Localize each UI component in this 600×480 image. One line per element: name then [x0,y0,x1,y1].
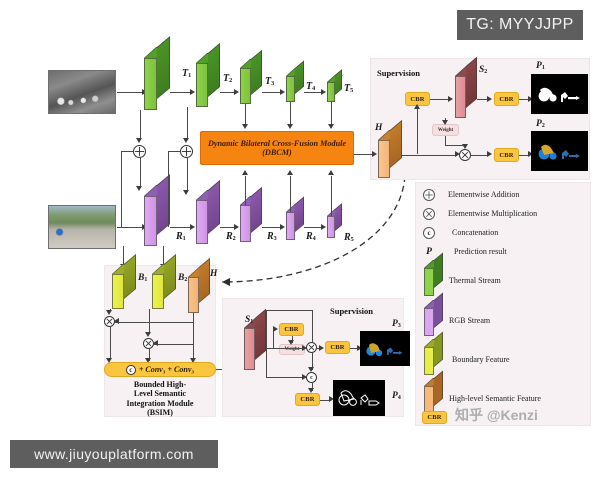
arrow-r2-r3 [234,224,239,230]
prediction-image-3 [360,331,410,366]
arrow-t4-dbcm [287,124,293,129]
arrow-t1-add1 [136,138,142,143]
prediction-image-1 [531,74,588,114]
cube-side [124,254,136,299]
times-circle-icon [144,338,153,349]
legend-label-rgb: RGB Stream [449,316,490,325]
arrow-add2-r2 [183,190,189,195]
arrow-bypass-concat [302,374,307,380]
connector-h-mul2 [154,344,193,345]
thermal-block-3 [240,68,262,104]
cube-side [208,43,220,97]
cube-side [295,196,304,232]
thermal-label-2: T2 [223,74,232,84]
cube-side [390,120,402,168]
thermal-block-2 [196,63,220,107]
arrow-cbr1-weight [288,340,294,345]
connector-r3-r4 [262,227,281,228]
legend-rgb-block-icon [424,308,443,336]
thermal-block-5 [327,82,342,102]
legend-label-semantic: High-level Semantic Feature [449,394,541,403]
supervision-bottom-multiply-node [306,342,317,353]
connector-mul1-bar [110,327,111,360]
connector-bypass-bottom [266,377,306,378]
semantic-block-bsim [188,277,210,313]
connector-r1-r2 [170,227,191,228]
supervision-top-h-block [378,140,402,178]
supervision-top-h-label: H [375,124,382,134]
supervision-top-s2-label: S2 [479,66,487,76]
times-circle-icon [105,316,114,327]
legend-row-prediction: P Prediction result [423,244,588,259]
arrow-h-mul2 [153,340,158,346]
connector-add1-r1 [140,158,141,188]
connector-h-row [402,155,457,156]
cube-front [424,268,434,296]
cube-side [164,254,176,299]
connector-r4-r5 [304,227,322,228]
arrow-s2-cbr2 [487,96,492,102]
thermal-label-5: T5 [344,84,353,94]
connector-bypass-top [266,310,312,311]
connector-add2-r2 [187,158,188,192]
prediction-label-1: P1 [536,62,545,72]
connector-t4-t5 [304,92,322,93]
connector-t2-add2 [187,107,188,139]
bsim-caption: Bounded High- Level Semantic Integration… [106,380,214,418]
arrow-t5-dbcm [328,124,334,129]
supervision-top-cbr-3[interactable]: CBR [494,148,519,162]
cube-front [327,82,335,102]
supervision-bottom-cbr-2[interactable]: CBR [325,341,350,354]
cube-side [208,180,220,234]
thermal-block-1 [144,58,170,110]
bsim-caption-line-2: Level Semantic [106,389,214,398]
arrow-r1-r2 [190,224,195,230]
c-circle-icon: c [423,227,435,239]
cube-side [434,331,443,367]
figure-canvas: T1 T2 T3 T4 T5 [0,0,600,480]
legend-cbr-icon: CBR [422,411,447,424]
arrow-h-mul1 [114,318,119,324]
legend-label-prediction: Prediction result [454,247,507,256]
connector-t2-t3 [220,92,235,93]
rgb-label-4: R4 [306,232,316,242]
thermal-label-3: T3 [265,77,274,87]
times-circle-icon [423,208,435,220]
arrow-h-multiply [455,151,460,157]
arrow-t2-add2 [183,138,189,143]
elementwise-addition-node-2 [180,145,193,158]
rgb-block-2 [196,200,220,244]
supervision-top-cbr-2[interactable]: CBR [494,92,519,106]
supervision-bottom-title: Supervision [330,306,373,316]
cube-side [255,309,266,360]
supervision-top-s2-block [455,76,477,118]
cube-front [286,212,295,240]
cube-side [251,50,262,95]
times-circle-icon [460,149,470,161]
arrow-cbr1-s2 [448,96,453,102]
arrow-t4-t5 [321,89,326,95]
connector-cbr1-s2 [430,99,449,100]
connector-r5-dbcm [331,176,332,216]
connector-h-mul1 [115,322,193,323]
cube-front [196,200,208,244]
cube-side [466,57,477,108]
cube-side [335,69,342,95]
supervision-top-title: Supervision [377,68,420,78]
prediction-label-2: P2 [536,120,545,130]
thermal-block-4 [286,76,304,102]
cube-side [434,370,443,406]
cube-side [199,258,210,303]
edge-map-icon [333,380,385,416]
arrow-mul-cbr2-b [319,345,324,351]
legend-label-addition: Elementwise Addition [448,190,519,199]
prediction-image-2 [531,131,588,171]
cube-side [157,36,170,99]
watermark-top-right: TG: MYYJJPP [457,10,583,40]
cube-front [240,205,251,242]
arrow-r5-dbcm [328,170,334,175]
arrow-t3-dbcm [242,124,248,129]
legend-label-concatenation: Concatenation [452,228,498,237]
connector-r2-r3 [220,227,235,228]
cube-front [424,308,434,336]
cube-side [434,252,443,288]
connector-hmid-down [149,322,150,324]
connector-bus-add1 [121,151,133,152]
rgb-label-5: R5 [344,233,354,243]
connector-h-up-cbr1 [417,107,418,154]
supervision-top-weight: Weight [432,124,459,136]
legend-semantic-block-icon [424,386,443,414]
arrow-t2-t3 [234,89,239,95]
cube-front [244,328,255,370]
p-bold-icon: P [423,247,435,257]
supervision-bottom-concat-node: c [306,372,317,383]
connector-dbcm-h [354,154,374,155]
color-map-icon [531,131,588,171]
legend-label-multiplication: Elementwise Multiplication [448,209,537,218]
rgb-input-image [48,205,116,249]
arrow-concat-cbr3 [308,388,314,393]
cube-side [251,187,262,233]
legend-label-thermal: Thermal Stream [449,276,501,285]
arrow-s1-cbr1 [273,326,278,332]
bsim-concat-bar[interactable]: c + Conv₃ + Conv₃ [104,362,216,377]
legend-thermal-block-icon [424,268,443,296]
cube-side [335,203,342,231]
cube-front [144,196,157,246]
connector-bypass-right [312,310,313,342]
arrow-weight-multiply [462,144,468,149]
connector-bus-vert-1 [121,151,122,227]
connector-s1-row [266,348,304,349]
supervision-bottom-s1-label: S1 [245,316,253,326]
rgb-label-2: R2 [226,232,236,242]
connector-h-down [193,313,194,361]
rgb-block-5 [327,216,342,238]
connector-s1-up [273,330,274,348]
cube-front [327,216,335,238]
thermal-label-1: T1 [182,69,191,79]
prediction-label-3: P3 [392,320,401,330]
cube-front [112,274,124,309]
rgb-block-3 [240,205,262,242]
arrow-add1-r1 [136,186,142,191]
arrow-t3-t4 [280,89,285,95]
connector-bypass-left [266,310,267,377]
cube-front [455,76,466,118]
rgb-label-1: R1 [176,232,186,242]
boundary-label-2: B2 [178,274,187,284]
rgb-block-4 [286,212,304,240]
legend-row-multiplication: Elementwise Multiplication [423,206,588,221]
cube-front [424,347,434,375]
connector-t1-add1 [140,110,141,139]
connector-rgb-input [117,227,143,228]
cube-front [144,58,157,110]
bsim-caption-line-1: Bounded High- [106,380,214,389]
arrow-s2-weight [442,120,448,125]
concat-circle-icon: c [126,365,136,375]
arrow-b1-mul1 [106,310,112,315]
plus-circle-icon [181,145,192,158]
connector-mul-cbr3 [471,155,488,156]
cube-front [196,63,208,107]
times-circle-icon [307,342,316,353]
arrow-r3-dbcm [242,170,248,175]
cube-front [286,76,295,102]
arrow-mul-cbr3 [487,151,492,157]
watermark-zhihu: 知乎 @Kenzi [455,405,538,425]
arrow-r3-r4 [280,224,285,230]
dbcm-abbrev: (DBCM) [262,148,292,157]
arrow-mul-concat [308,367,314,372]
supervision-bottom-s1-block [244,328,266,370]
plus-circle-icon [423,189,435,201]
cube-front [152,274,164,309]
connector-r4-dbcm [290,176,291,212]
cube-side [295,60,304,94]
bsim-caption-line-4: (BSIM) [106,408,214,417]
boundary-label-1: B1 [138,274,147,284]
connector-bus-vert-2 [168,151,169,227]
supervision-bottom-cbr-3[interactable]: CBR [295,393,320,406]
arrow-b2-mul2 [145,332,151,337]
connector-t4-dbcm [290,102,291,125]
prediction-label-4: P4 [392,392,401,402]
color-map-icon [360,331,410,366]
rgb-block-1 [144,196,170,246]
supervision-bottom-cbr-1[interactable]: CBR [279,323,304,336]
thermal-input-image [48,70,116,114]
arrow-r4-dbcm [287,170,293,175]
connector-t3-t4 [262,92,281,93]
arrow-r4-r5 [321,224,326,230]
concat-circle-icon: c [310,375,313,381]
cube-front [378,140,390,178]
dbcm-title: Dynamic Bilateral Cross-Fusion Module [208,139,346,148]
bsim-caption-line-3: Integration Module [106,399,214,408]
connector-bus-add2 [168,151,180,152]
legend-boundary-block-icon [424,347,443,375]
elementwise-addition-node-1 [133,145,146,158]
legend-row-concatenation: c Concatenation [423,225,588,240]
connector-t3-dbcm [245,104,246,125]
cube-front [188,277,199,313]
connector-t1-t2 [170,92,191,93]
connector-t5-dbcm [331,102,332,125]
cube-front [424,386,434,414]
arrow-dbcm-h [372,151,377,157]
bsim-bar-text: + Conv₃ + Conv₃ [139,365,194,374]
rgb-label-3: R3 [267,232,277,242]
binary-mask-icon [531,74,588,114]
cube-side [434,292,443,328]
legend-row-addition: Elementwise Addition [423,187,588,202]
plus-circle-icon [134,145,145,158]
connector-weight-mul [305,348,307,349]
watermark-bottom-left: www.jiuyouplatform.com [10,440,218,468]
boundary-block-1 [112,274,136,309]
cube-front [240,68,251,104]
connector-thermal-input [117,92,143,93]
arrow-h-cbr1 [414,104,420,109]
connector-weight-multiply [445,136,446,145]
thermal-label-4: T4 [306,82,315,92]
prediction-image-4 [333,380,385,416]
dbcm-module[interactable]: Dynamic Bilateral Cross-Fusion Module (D… [200,131,354,165]
boundary-block-2 [152,274,176,309]
supervision-top-multiply-node [459,149,471,161]
legend-label-boundary: Boundary Feature [452,355,510,364]
arrow-t1-t2 [190,89,195,95]
semantic-label-bsim: H [210,270,217,280]
connector-r3-dbcm [245,176,246,205]
